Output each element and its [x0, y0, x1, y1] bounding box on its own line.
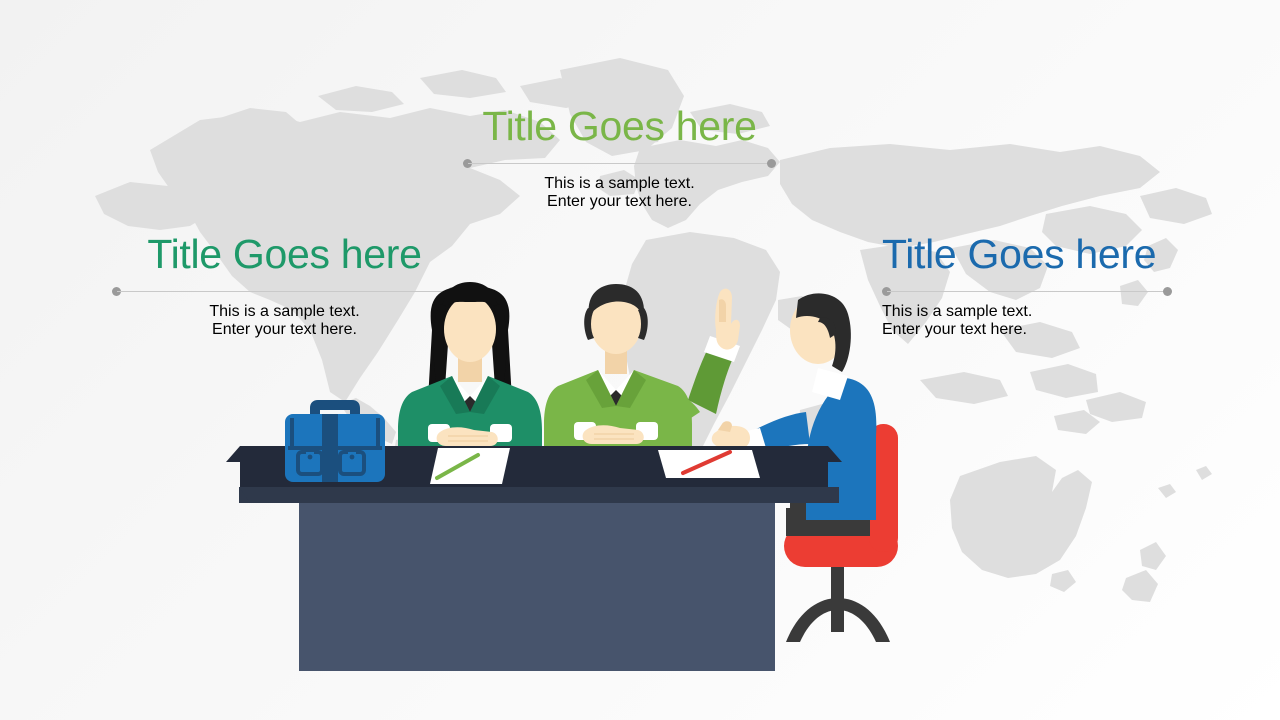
paper-with-green-pencil — [430, 448, 510, 484]
briefcase — [285, 400, 385, 482]
meeting-illustration — [0, 0, 1280, 720]
paper-with-red-pencil — [658, 450, 760, 478]
person-man-green — [544, 284, 740, 446]
presentation-slide: Title Goes here This is a sample text. E… — [0, 0, 1280, 720]
person-woman-teal — [398, 282, 542, 448]
